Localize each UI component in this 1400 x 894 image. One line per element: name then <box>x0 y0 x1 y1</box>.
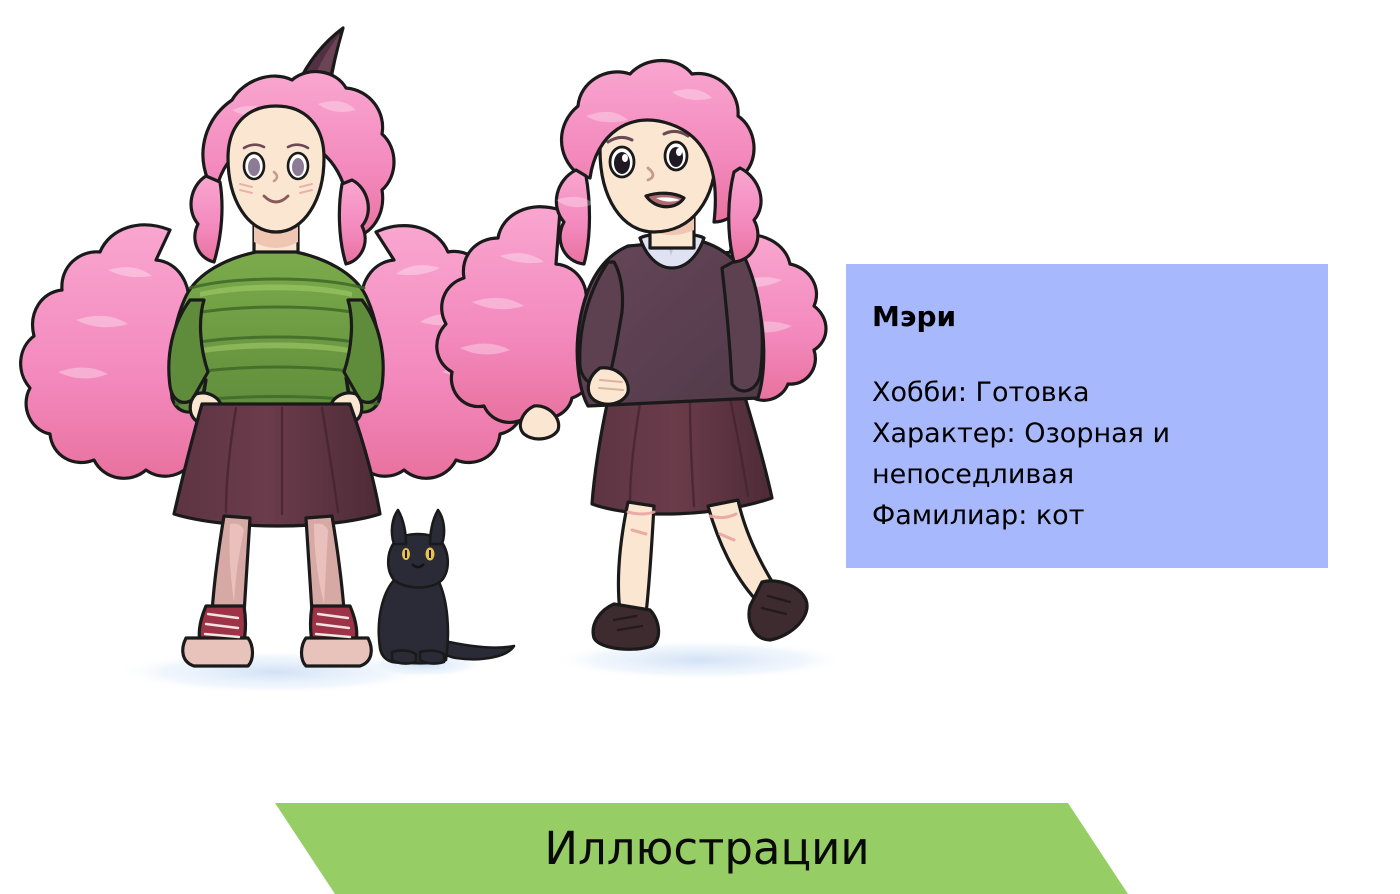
character-name: Мэри <box>872 300 1302 334</box>
cat-paws <box>392 650 416 663</box>
attribute-personality-line2: непоседливая <box>872 454 1302 495</box>
maroon-skirt-2 <box>592 394 772 514</box>
character-attributes: Хобби: Готовка Характер: Озорная и непос… <box>872 372 1302 536</box>
black-cat-familiar <box>379 510 514 664</box>
left-sneaker <box>183 606 253 666</box>
left-shoe <box>593 604 658 649</box>
maroon-skirt <box>174 404 380 526</box>
right-sneaker <box>302 606 372 666</box>
cat-ear-right <box>430 510 444 544</box>
character-illustration <box>0 0 880 720</box>
face <box>228 106 324 232</box>
figure-mary-school-pose <box>437 61 826 650</box>
attribute-hobby: Хобби: Готовка <box>872 372 1302 413</box>
left-hand-2 <box>588 368 628 404</box>
attribute-personality-line1: Характер: Озорная и <box>872 413 1302 454</box>
attribute-familiar: Фамилиар: кот <box>872 495 1302 536</box>
character-info-card: Мэри Хобби: Готовка Характер: Озорная и … <box>846 264 1328 568</box>
banner-parallelogram <box>0 803 1400 894</box>
right-hand-2 <box>520 406 558 439</box>
section-banner: Иллюстрации <box>0 803 1400 894</box>
slide-page: Мэри Хобби: Готовка Характер: Озорная и … <box>0 0 1400 894</box>
cat-tail <box>440 640 514 659</box>
right-shoe <box>749 581 807 640</box>
cat-ear-left <box>392 510 406 544</box>
